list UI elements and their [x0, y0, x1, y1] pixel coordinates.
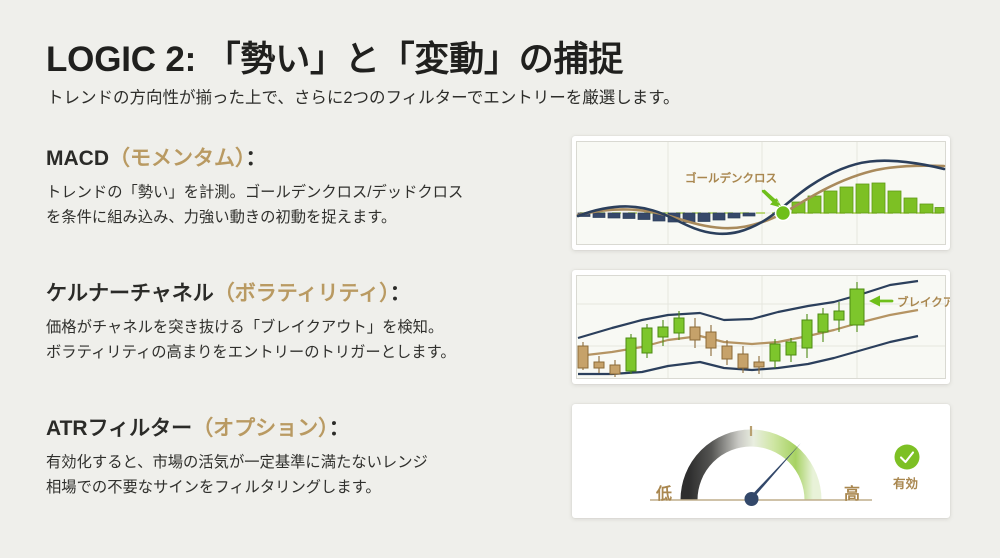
section-atr-body-line2: 相場での不要なサインをフィルタリングします。	[46, 476, 428, 501]
candle	[578, 342, 588, 370]
atr-gauge-label-high: 高	[844, 484, 860, 503]
section-keltner-heading-main: ケルナーチャネル	[46, 282, 214, 305]
section-atr-heading: ATRフィルター（オプション）：	[46, 412, 428, 442]
section-macd-body: トレンドの「勢い」を計測。ゴールデンクロス/デッドクロス を条件に組み込み、力強…	[46, 181, 463, 231]
check-circle-icon	[895, 445, 920, 470]
section-macd-heading: MACD（モメンタム）：	[46, 142, 463, 172]
panel-keltner-chart: ブレイクアウト	[572, 270, 950, 384]
atr-gauge-svg: 低 高 有効	[572, 404, 950, 518]
keltner-chart-svg: ブレイクアウト	[572, 270, 950, 384]
section-atr-body-line1: 有効化すると、市場の活気が一定基準に満たないレンジ	[46, 451, 428, 476]
slide-root: LOGIC 2: 「勢い」と「変動」の捕捉 トレンドの方向性が揃った上で、さらに…	[0, 0, 1000, 558]
page-title: LOGIC 2: 「勢い」と「変動」の捕捉	[46, 31, 623, 82]
section-atr: ATRフィルター（オプション）： 有効化すると、市場の活気が一定基準に満たないレ…	[46, 412, 428, 501]
atr-gauge-label-low: 低	[655, 484, 672, 503]
panel-macd-chart: ゴールデンクロス	[572, 136, 950, 250]
atr-gauge-arc	[689, 438, 813, 500]
section-keltner: ケルナーチャネル（ボラティリティ）： 価格がチャネルを突き抜ける「ブレイクアウト…	[46, 277, 456, 366]
candle-breakout	[850, 282, 864, 332]
crossover-dot-icon	[776, 206, 791, 221]
section-atr-heading-accent: （オプション）	[192, 417, 329, 440]
gauge-needle-icon	[745, 443, 802, 506]
section-macd-heading-colon: ：	[246, 147, 267, 170]
keltner-annotation-label: ブレイクアウト	[897, 295, 950, 309]
panel-atr-gauge: 低 高 有効	[572, 404, 950, 518]
section-keltner-body: 価格がチャネルを突き抜ける「ブレイクアウト」を検知。 ボラティリティの高まりをエ…	[46, 316, 456, 366]
page-subtitle: トレンドの方向性が揃った上で、さらに2つのフィルターでエントリーを厳選します。	[47, 84, 680, 108]
section-keltner-heading: ケルナーチャネル（ボラティリティ）：	[46, 277, 456, 307]
section-macd-body-line2: を条件に組み込み、力強い動きの初動を捉えます。	[46, 206, 463, 231]
candle	[626, 334, 636, 374]
section-atr-body: 有効化すると、市場の活気が一定基準に満たないレンジ 相場での不要なサインをフィル…	[46, 451, 428, 501]
section-keltner-heading-accent: （ボラティリティ）	[214, 282, 390, 305]
section-keltner-body-line1: 価格がチャネルを突き抜ける「ブレイクアウト」を検知。	[46, 316, 456, 341]
section-macd-heading-accent: （モメンタム）	[109, 147, 246, 170]
macd-annotation-label: ゴールデンクロス	[685, 171, 777, 185]
section-atr-heading-colon: ：	[329, 417, 350, 440]
candle	[642, 324, 652, 358]
section-macd: MACD（モメンタム）： トレンドの「勢い」を計測。ゴールデンクロス/デッドクロ…	[46, 142, 463, 231]
section-keltner-heading-colon: ：	[390, 282, 411, 305]
section-atr-heading-main: ATRフィルター	[46, 417, 192, 440]
macd-chart-svg: ゴールデンクロス	[572, 136, 950, 250]
section-macd-body-line1: トレンドの「勢い」を計測。ゴールデンクロス/デッドクロス	[46, 181, 463, 206]
atr-status-label: 有効	[893, 476, 918, 491]
section-keltner-body-line2: ボラティリティの高まりをエントリーのトリガーとします。	[46, 341, 456, 366]
section-macd-heading-main: MACD	[46, 147, 109, 170]
